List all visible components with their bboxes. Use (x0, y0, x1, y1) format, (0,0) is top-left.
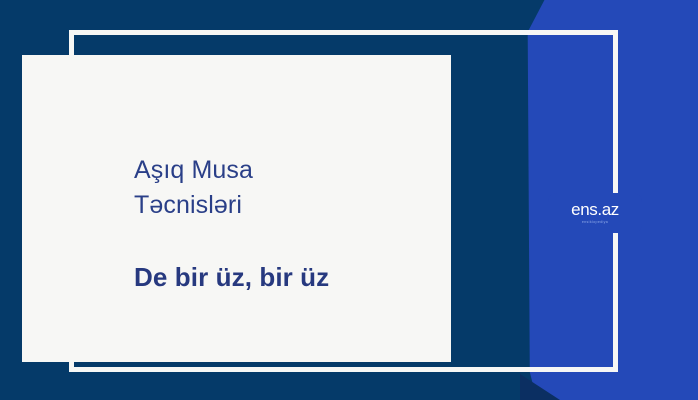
page-title-line-2: Təcnisləri (134, 188, 454, 223)
text-block: Aşıq Musa Təcnisləri De bir üz, bir üz (134, 153, 454, 295)
content-card: Aşıq Musa Təcnisləri De bir üz, bir üz (22, 55, 451, 362)
page-subtitle: De bir üz, bir üz (134, 261, 454, 295)
logo-tagline: ensiklopediya (582, 221, 608, 224)
page-title-line-1: Aşıq Musa (134, 153, 454, 188)
ens-az-logo-badge[interactable]: ens.az ensiklopediya (548, 193, 642, 233)
logo-wordmark: ens.az (571, 201, 619, 218)
slide-canvas: Aşıq Musa Təcnisləri De bir üz, bir üz e… (0, 0, 698, 400)
